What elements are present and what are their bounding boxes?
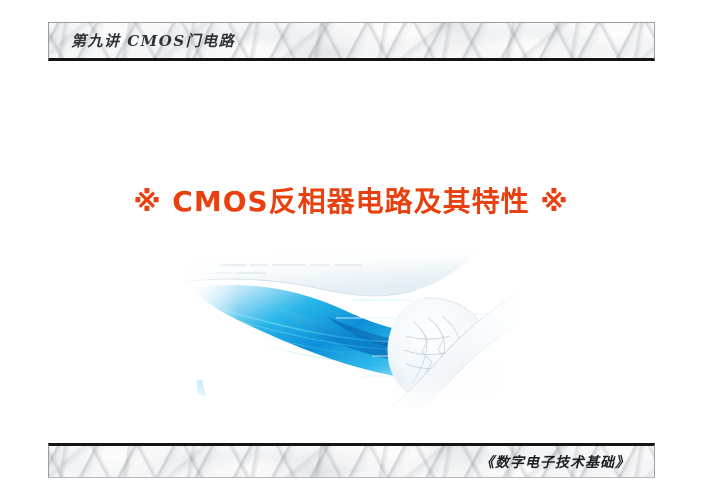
abstract-blue-wave-graphic: [176, 244, 522, 412]
chapter-title: 第九讲 CMOS门电路: [71, 30, 235, 51]
decor-svg: [176, 244, 522, 412]
presentation-slide: 第九讲 CMOS门电路 ※ CMOS反相器电路及其特性 ※: [0, 0, 702, 496]
slide-header-bar: 第九讲 CMOS门电路: [48, 22, 655, 61]
book-title-footer: 《数字电子技术基础》: [480, 452, 630, 472]
slide-footer-bar: 《数字电子技术基础》: [48, 443, 655, 478]
slide-main-title: ※ CMOS反相器电路及其特性 ※: [0, 180, 702, 220]
